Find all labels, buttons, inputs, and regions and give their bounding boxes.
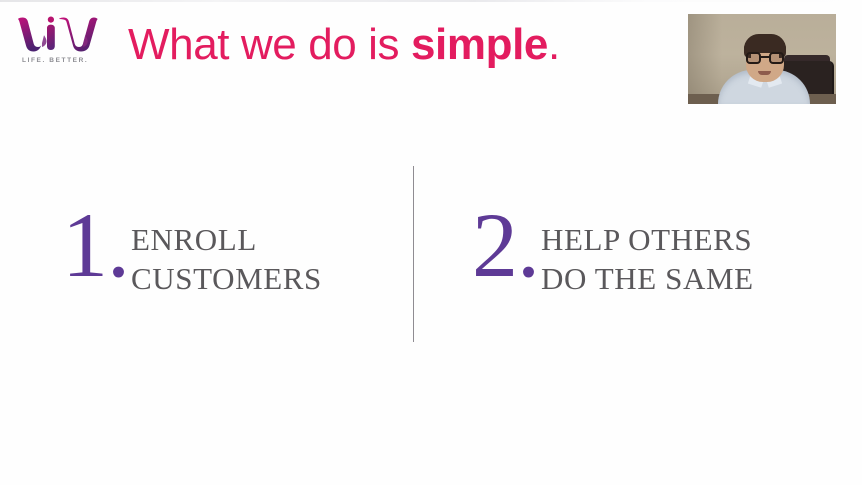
viv-logo-icon (16, 16, 98, 54)
presenter-webcam[interactable] (688, 14, 836, 104)
webcam-wall-shadow (688, 14, 722, 104)
step-item-2: 2. HELP OTHERS DO THE SAME (472, 204, 754, 298)
slide-title-suffix: . (548, 20, 560, 69)
step-2-number: 2. (472, 200, 539, 290)
step-item-1: 1. ENROLL CUSTOMERS (62, 204, 322, 298)
step-1-label-line-1: ENROLL (131, 220, 322, 259)
viv-logo: LIFE. BETTER. (16, 16, 110, 74)
webcam-person-glasses (746, 52, 784, 64)
column-divider (413, 166, 414, 342)
glasses-lens-left (746, 52, 761, 64)
glasses-bridge (761, 56, 769, 58)
step-2-label-line-1: HELP OTHERS (541, 220, 754, 259)
webcam-person-mouth (758, 71, 771, 75)
presentation-slide: LIFE. BETTER. What we do is simple. 1. E… (0, 0, 862, 485)
slide-title-prefix: What we do is (128, 20, 411, 69)
step-1-label-line-2: CUSTOMERS (131, 259, 322, 298)
slide-title-emphasis: simple (411, 20, 548, 69)
glasses-lens-right (769, 52, 784, 64)
logo-tagline: LIFE. BETTER. (22, 57, 110, 64)
slide-title: What we do is simple. (128, 18, 560, 72)
step-1-number: 1. (62, 200, 129, 290)
top-hairline-divider (0, 0, 862, 2)
step-1-label: ENROLL CUSTOMERS (131, 220, 322, 298)
step-2-label: HELP OTHERS DO THE SAME (541, 220, 754, 298)
step-2-label-line-2: DO THE SAME (541, 259, 754, 298)
